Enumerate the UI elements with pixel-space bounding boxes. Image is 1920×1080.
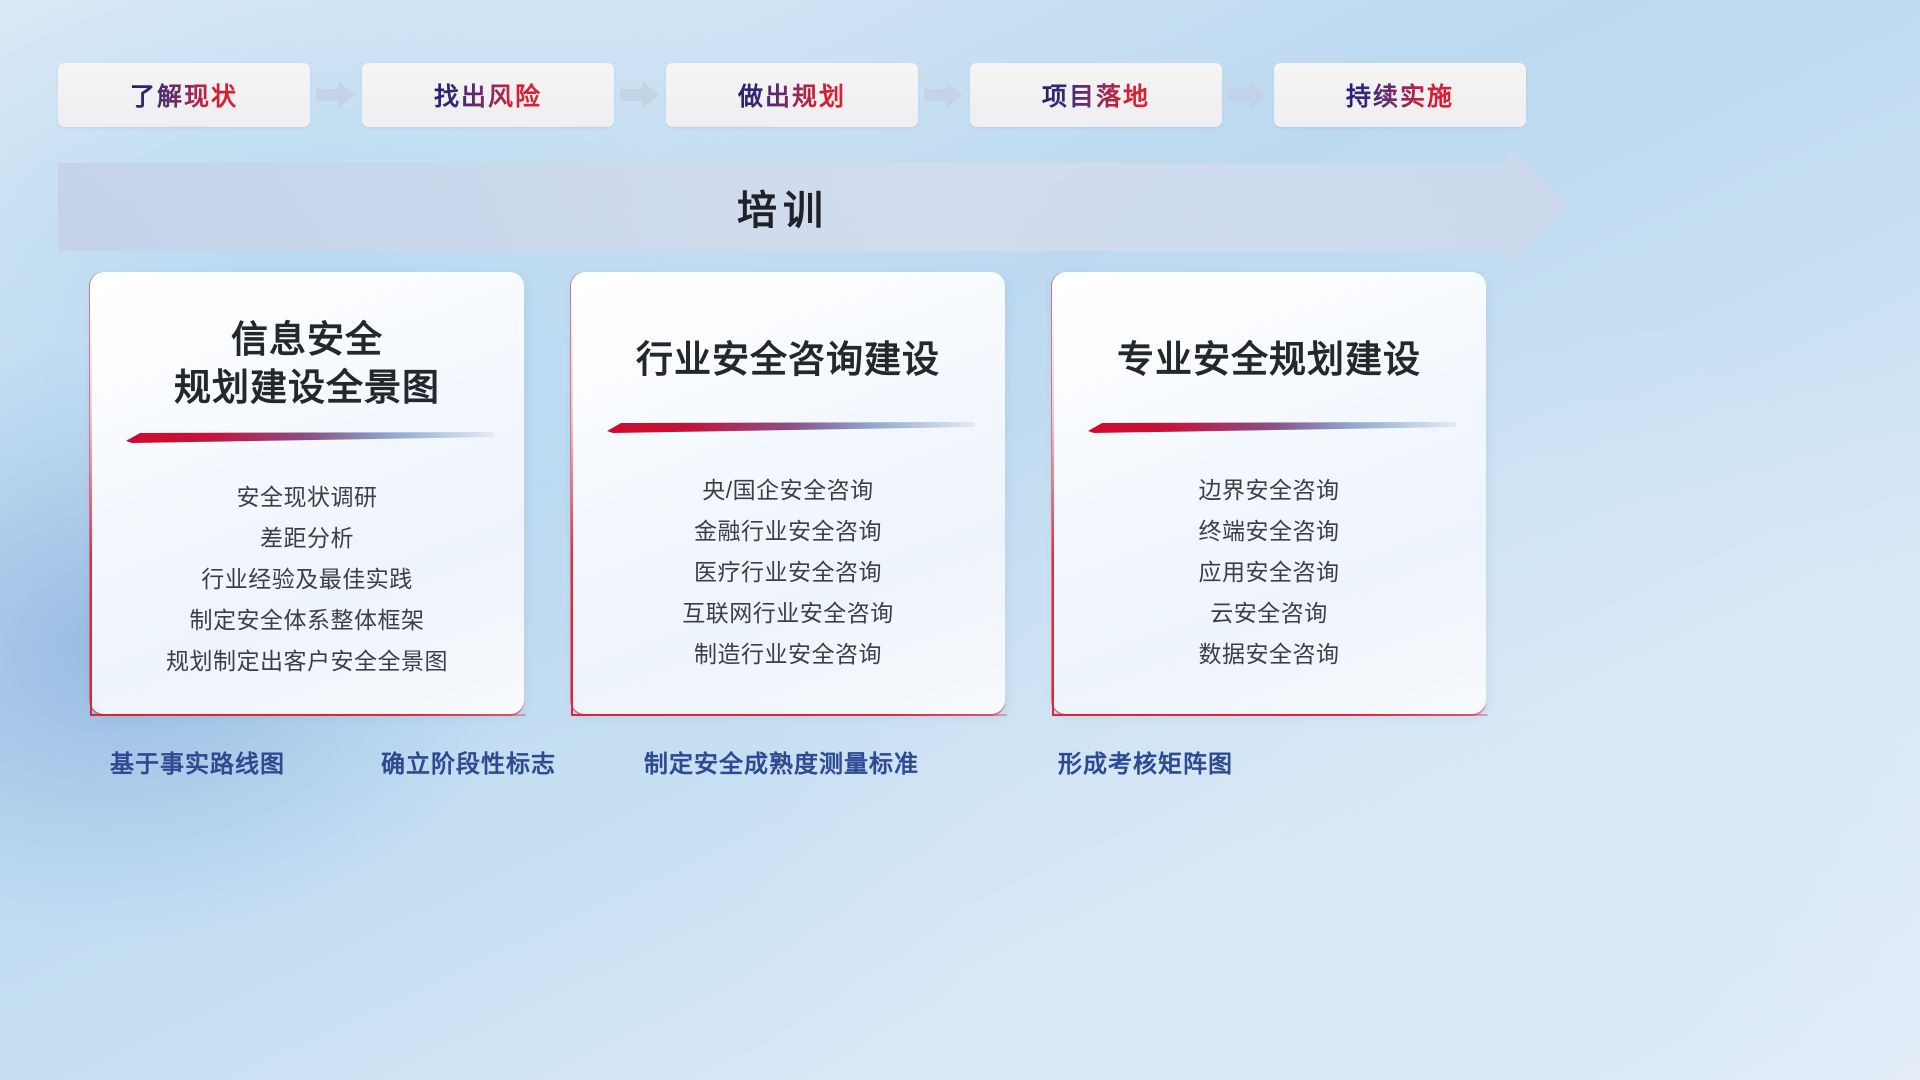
training-banner: 培训 bbox=[58, 163, 1508, 251]
card-list-item: 差距分析 bbox=[90, 518, 524, 559]
captions-row: 基于事实路线图确立阶段性标志制定安全成熟度测量标准形成考核矩阵图 bbox=[0, 744, 1920, 792]
step-label: 持续实施 bbox=[1346, 77, 1454, 113]
card-title: 行业安全咨询建设 bbox=[571, 272, 1005, 384]
card-list-item: 制定安全体系整体框架 bbox=[90, 600, 524, 641]
card-divider bbox=[126, 432, 494, 443]
caption-3: 制定安全成熟度测量标准 bbox=[644, 744, 919, 779]
arrow-right-icon bbox=[310, 78, 362, 112]
card-list-item: 医疗行业安全咨询 bbox=[571, 552, 1005, 593]
card-divider bbox=[1088, 422, 1456, 433]
caption-4: 形成考核矩阵图 bbox=[1058, 744, 1233, 779]
step-box-3[interactable]: 做出规划 bbox=[666, 63, 918, 127]
card-item-list: 央/国企安全咨询金融行业安全咨询医疗行业安全咨询互联网行业安全咨询制造行业安全咨… bbox=[571, 470, 1005, 675]
step-box-4[interactable]: 项目落地 bbox=[970, 63, 1222, 127]
card-list-item: 金融行业安全咨询 bbox=[571, 511, 1005, 552]
slide-canvas: 了解现状找出风险做出规划项目落地持续实施 培训 信息安全 规划建设全景图安全现状… bbox=[0, 0, 1920, 1080]
step-label: 了解现状 bbox=[130, 77, 238, 113]
caption-1: 基于事实路线图 bbox=[110, 744, 285, 779]
card-list-item: 制造行业安全咨询 bbox=[571, 634, 1005, 675]
card-list-item: 边界安全咨询 bbox=[1052, 470, 1486, 511]
step-box-1[interactable]: 了解现状 bbox=[58, 63, 310, 127]
arrow-right-icon bbox=[1222, 78, 1274, 112]
caption-2: 确立阶段性标志 bbox=[381, 744, 556, 779]
step-box-5[interactable]: 持续实施 bbox=[1274, 63, 1526, 127]
cards-row: 信息安全 规划建设全景图安全现状调研差距分析行业经验及最佳实践制定安全体系整体框… bbox=[90, 272, 1838, 714]
card-title: 专业安全规划建设 bbox=[1052, 272, 1486, 384]
card-list-item: 应用安全咨询 bbox=[1052, 552, 1486, 593]
banner-arrowhead-icon bbox=[1508, 147, 1570, 267]
card-title: 信息安全 规划建设全景图 bbox=[90, 272, 524, 412]
service-card-3[interactable]: 专业安全规划建设边界安全咨询终端安全咨询应用安全咨询云安全咨询数据安全咨询 bbox=[1052, 272, 1486, 714]
card-divider bbox=[607, 422, 975, 433]
banner-title: 培训 bbox=[58, 163, 1508, 251]
card-list-item: 云安全咨询 bbox=[1052, 593, 1486, 634]
arrow-right-icon bbox=[614, 78, 666, 112]
card-item-list: 安全现状调研差距分析行业经验及最佳实践制定安全体系整体框架规划制定出客户安全全景… bbox=[90, 477, 524, 682]
step-box-2[interactable]: 找出风险 bbox=[362, 63, 614, 127]
card-list-item: 数据安全咨询 bbox=[1052, 634, 1486, 675]
card-list-item: 行业经验及最佳实践 bbox=[90, 559, 524, 600]
card-item-list: 边界安全咨询终端安全咨询应用安全咨询云安全咨询数据安全咨询 bbox=[1052, 470, 1486, 675]
service-card-1[interactable]: 信息安全 规划建设全景图安全现状调研差距分析行业经验及最佳实践制定安全体系整体框… bbox=[90, 272, 524, 714]
process-steps-row: 了解现状找出风险做出规划项目落地持续实施 bbox=[58, 62, 1858, 128]
arrow-right-icon bbox=[918, 78, 970, 112]
card-list-item: 互联网行业安全咨询 bbox=[571, 593, 1005, 634]
card-list-item: 终端安全咨询 bbox=[1052, 511, 1486, 552]
card-list-item: 规划制定出客户安全全景图 bbox=[90, 641, 524, 682]
step-label: 找出风险 bbox=[434, 77, 542, 113]
card-list-item: 央/国企安全咨询 bbox=[571, 470, 1005, 511]
step-label: 做出规划 bbox=[738, 77, 846, 113]
card-list-item: 安全现状调研 bbox=[90, 477, 524, 518]
service-card-2[interactable]: 行业安全咨询建设央/国企安全咨询金融行业安全咨询医疗行业安全咨询互联网行业安全咨… bbox=[571, 272, 1005, 714]
step-label: 项目落地 bbox=[1042, 77, 1150, 113]
